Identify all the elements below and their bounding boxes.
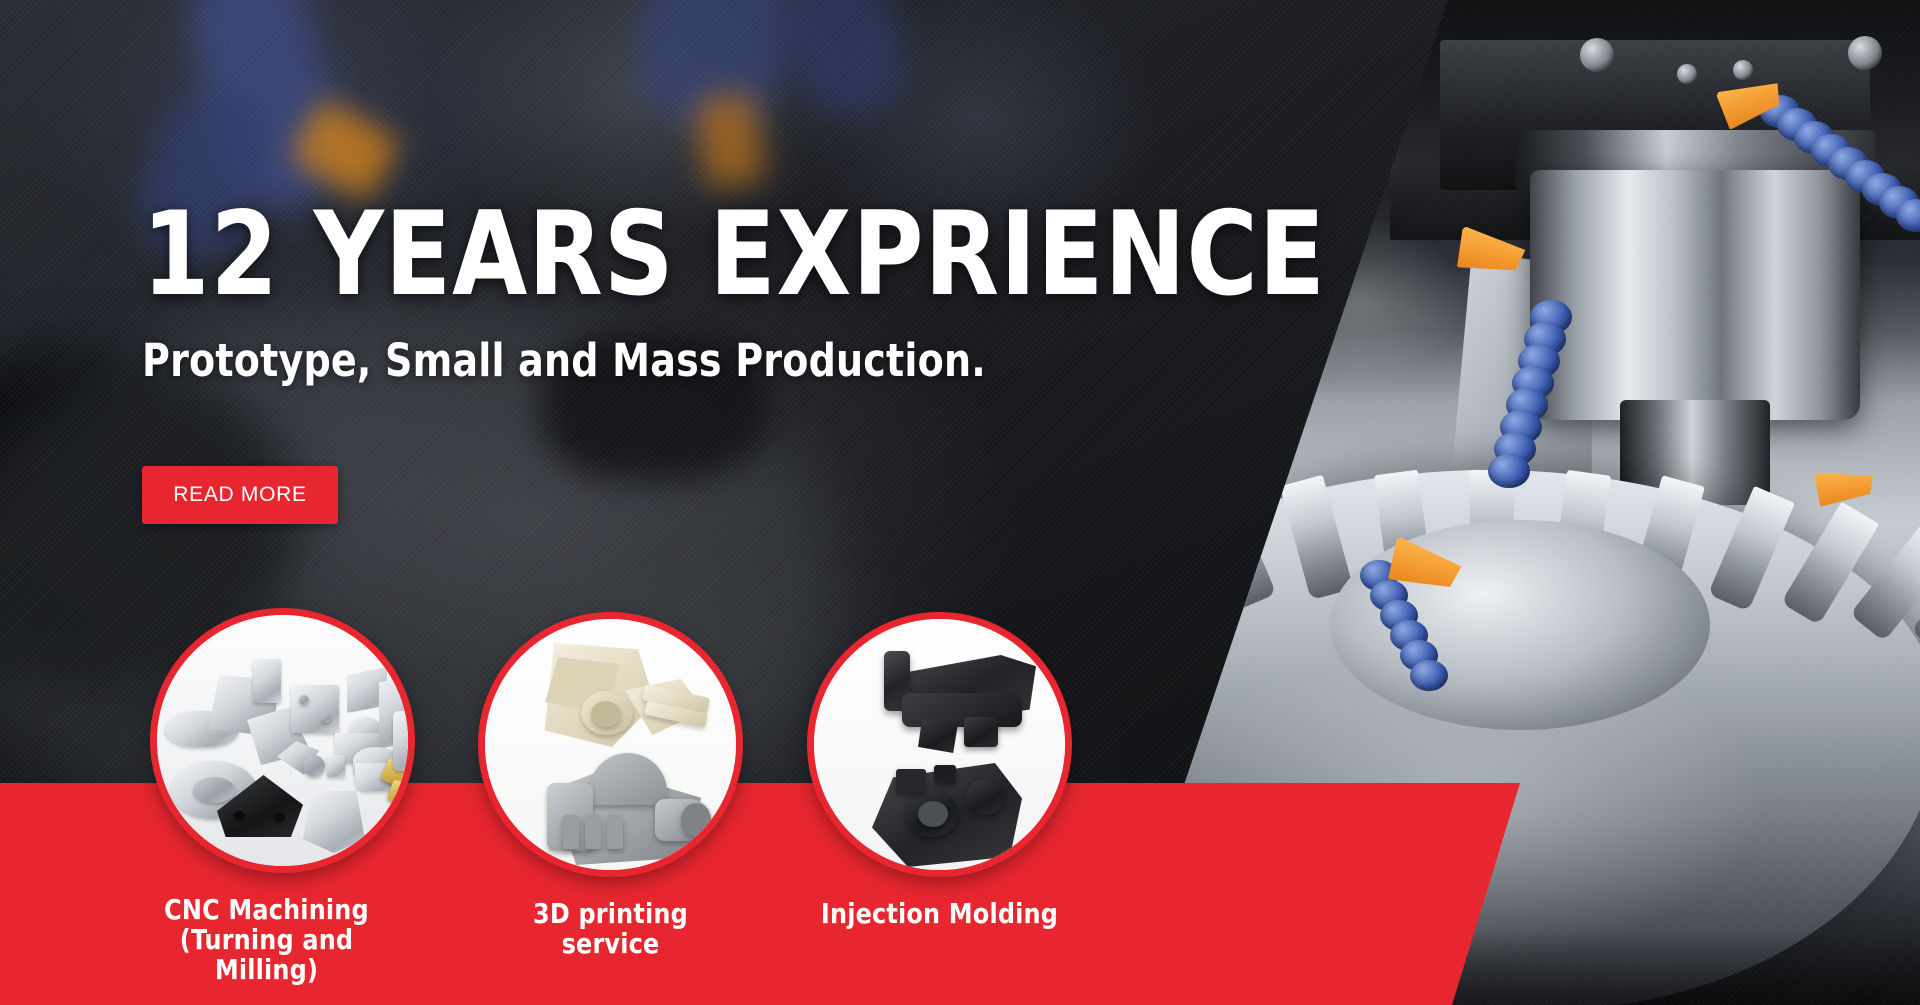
background-nozzle (694, 91, 766, 188)
read-more-button[interactable]: READ MORE (142, 466, 338, 524)
service-image-3d-printing (478, 612, 743, 877)
hero-copy: 12 YEARS EXPRIENCE Prototype, Small and … (142, 200, 1102, 387)
service-item-cnc-machining[interactable]: CNC Machining (Turning and Milling) (150, 608, 415, 986)
coolant-hose-segment (1410, 660, 1448, 691)
service-item-injection-molding[interactable]: Injection Molding (807, 612, 1072, 929)
service-image-cnc (150, 608, 415, 873)
background-coolant-hose (770, 0, 921, 133)
service-image-injection-molding (807, 612, 1072, 877)
page-subtitle: Prototype, Small and Mass Production. (142, 334, 1044, 387)
hero-banner-slide: 12 YEARS EXPRIENCE Prototype, Small and … (0, 0, 1920, 1005)
service-label: CNC Machining (Turning and Milling) (141, 895, 393, 986)
service-item-3d-printing[interactable]: 3D printing service (478, 612, 743, 959)
service-label: Injection Molding (814, 899, 1066, 929)
page-title: 12 YEARS EXPRIENCE (142, 200, 1035, 310)
service-label: 3D printing service (485, 899, 737, 959)
